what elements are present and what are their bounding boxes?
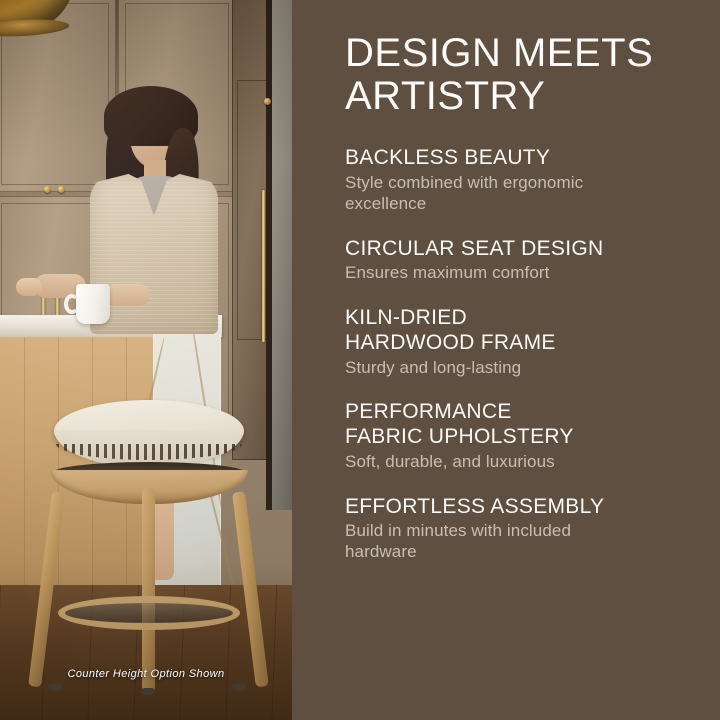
feature-title: EFFORTLESS ASSEMBLY <box>345 495 698 520</box>
product-lifestyle-photo: Counter Height Option Shown <box>0 0 292 720</box>
cabinet-knob-icon <box>58 186 65 193</box>
feature-description: Soft, durable, and luxurious <box>345 452 698 473</box>
feature-description: Style combined with ergonomic excellence <box>345 173 698 214</box>
stool-footrest-ring <box>58 596 240 630</box>
feature-item-backless-beauty: BACKLESS BEAUTY Style combined with ergo… <box>345 146 698 214</box>
backless-swivel-stool <box>30 400 265 690</box>
stainless-refrigerator <box>272 0 292 510</box>
feature-title: BACKLESS BEAUTY <box>345 146 698 171</box>
stool-leg <box>232 491 269 687</box>
feature-description: Ensures maximum comfort <box>345 263 698 284</box>
stool-foot-cap <box>48 684 62 691</box>
marketing-infographic: Counter Height Option Shown DESIGN MEETS… <box>0 0 720 720</box>
right-arm <box>104 284 150 306</box>
stool-leg <box>142 488 155 693</box>
feature-item-effortless-assembly: EFFORTLESS ASSEMBLY Build in minutes wit… <box>345 495 698 563</box>
feature-description: Sturdy and long-lasting <box>345 358 698 379</box>
feature-text-panel: DESIGN MEETS ARTISTRY BACKLESS BEAUTY St… <box>292 0 720 720</box>
page-title: DESIGN MEETS ARTISTRY <box>345 32 698 118</box>
feature-item-circular-seat-design: CIRCULAR SEAT DESIGN Ensures maximum com… <box>345 237 698 285</box>
stool-leg <box>28 491 65 687</box>
white-coffee-mug <box>76 284 110 324</box>
left-hand <box>16 278 42 296</box>
stool-foot-cap <box>232 684 246 691</box>
cabinet-bar-pull-icon <box>262 190 265 342</box>
cabinet-knob-icon <box>44 186 51 193</box>
feature-title: KILN-DRIED HARDWOOD FRAME <box>345 306 698 356</box>
model-person <box>78 88 218 338</box>
stool-foot-cap <box>141 688 155 695</box>
feature-item-performance-fabric-upholstery: PERFORMANCE FABRIC UPHOLSTERY Soft, dura… <box>345 400 698 472</box>
feature-description: Build in minutes with included hardware <box>345 521 698 562</box>
photo-caption: Counter Height Option Shown <box>0 668 292 680</box>
feature-item-kiln-dried-hardwood-frame: KILN-DRIED HARDWOOD FRAME Sturdy and lon… <box>345 306 698 378</box>
feature-title: PERFORMANCE FABRIC UPHOLSTERY <box>345 400 698 450</box>
feature-title: CIRCULAR SEAT DESIGN <box>345 237 698 262</box>
cabinet-knob-icon <box>264 98 271 105</box>
